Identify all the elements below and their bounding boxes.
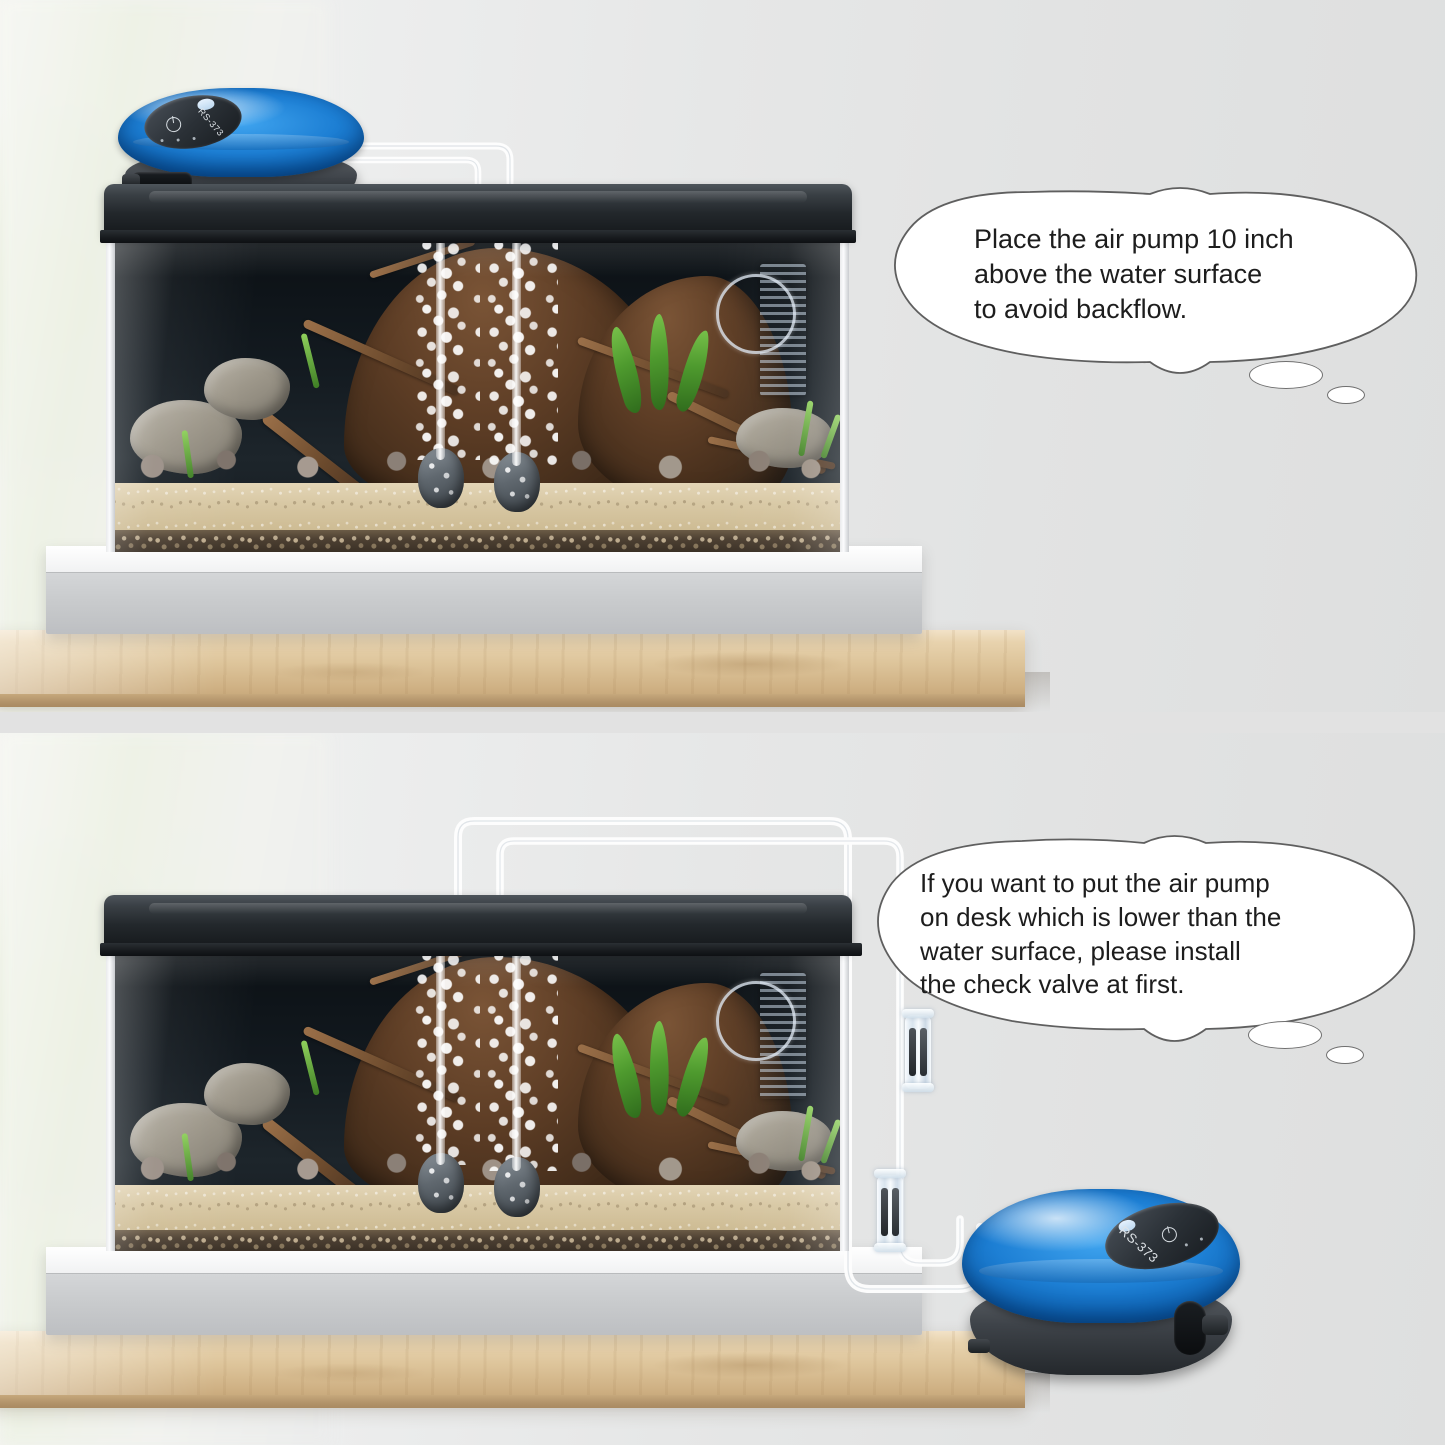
thought-tail-small: [1326, 1046, 1364, 1064]
thought-tail-large: [1248, 1021, 1322, 1049]
aquarium-base: [46, 1247, 922, 1335]
bubble-stream: [486, 240, 558, 468]
wood-shelf: [0, 1331, 1025, 1405]
thought-tail-large: [1249, 361, 1323, 389]
check-valve-cap: [902, 1083, 934, 1092]
pump-air-outlet: [1202, 1315, 1228, 1335]
indicator-dot: [176, 138, 180, 142]
feeding-ring: [716, 274, 796, 354]
aquarium-lid-lip: [100, 230, 856, 243]
callout-bubble-2: If you want to put the air pump on desk …: [862, 833, 1428, 1055]
bubble-stream: [414, 951, 480, 1165]
power-icon[interactable]: [1160, 1226, 1178, 1244]
panel-correct-placement: RS-373 Place the air pump 10 inch above …: [0, 0, 1445, 712]
aquarium-glass: [108, 951, 848, 1251]
indicator-dot: [1185, 1243, 1189, 1247]
check-valve-cap: [874, 1243, 906, 1252]
rock: [204, 1063, 290, 1125]
aquarium-lid: [104, 895, 852, 949]
indicator-dot: [160, 139, 164, 143]
shelf-edge: [0, 1395, 1025, 1408]
aquarium-base: [46, 546, 922, 634]
panel-check-valve: RS-373 If you want to put the air pump o…: [0, 733, 1445, 1445]
callout-bubble-1-text: Place the air pump 10 inch above the wat…: [974, 222, 1394, 327]
callout-bubble-2-text: If you want to put the air pump on desk …: [920, 867, 1390, 1002]
indicator-dot: [192, 137, 196, 141]
pump-seam: [979, 1259, 1224, 1283]
bubble-riser: [512, 240, 521, 466]
pump-air-outlet: [968, 1339, 990, 1353]
callout-bubble-1: Place the air pump 10 inch above the wat…: [880, 186, 1428, 386]
rock: [204, 358, 290, 420]
wood-shelf: [0, 630, 1025, 704]
bubble-stream: [486, 951, 558, 1171]
indicator-dot: [1200, 1237, 1204, 1241]
tank-frame-left: [106, 240, 115, 552]
thought-tail-small: [1327, 386, 1365, 404]
bubble-riser: [512, 951, 521, 1171]
aquarium-lid: [104, 184, 852, 236]
bubble-stream: [414, 240, 480, 460]
panel-divider: [0, 712, 1445, 733]
infographic-stage: USE THE AIR PUMP CORRECTLY Petz lifeWrld…: [0, 0, 1445, 1445]
tank-frame-right: [840, 951, 849, 1251]
tank-frame-right: [840, 240, 849, 552]
feeding-ring: [716, 981, 796, 1061]
bubble-riser: [436, 951, 445, 1165]
check-valve: [877, 1175, 903, 1249]
aquarium-glass: [108, 240, 848, 552]
gravel-front: [108, 1230, 848, 1251]
aquarium-lid-lip: [100, 943, 862, 956]
pump-model-label: RS-373: [1116, 1223, 1161, 1266]
gravel-front: [108, 530, 848, 552]
tank-frame-left: [106, 951, 115, 1251]
shelf-edge: [0, 694, 1025, 707]
air-pump[interactable]: RS-373: [962, 1189, 1240, 1375]
check-valve-cap: [874, 1169, 906, 1178]
power-icon[interactable]: [165, 116, 182, 133]
bubble-riser: [436, 240, 445, 460]
pump-model-label: RS-373: [196, 106, 226, 138]
